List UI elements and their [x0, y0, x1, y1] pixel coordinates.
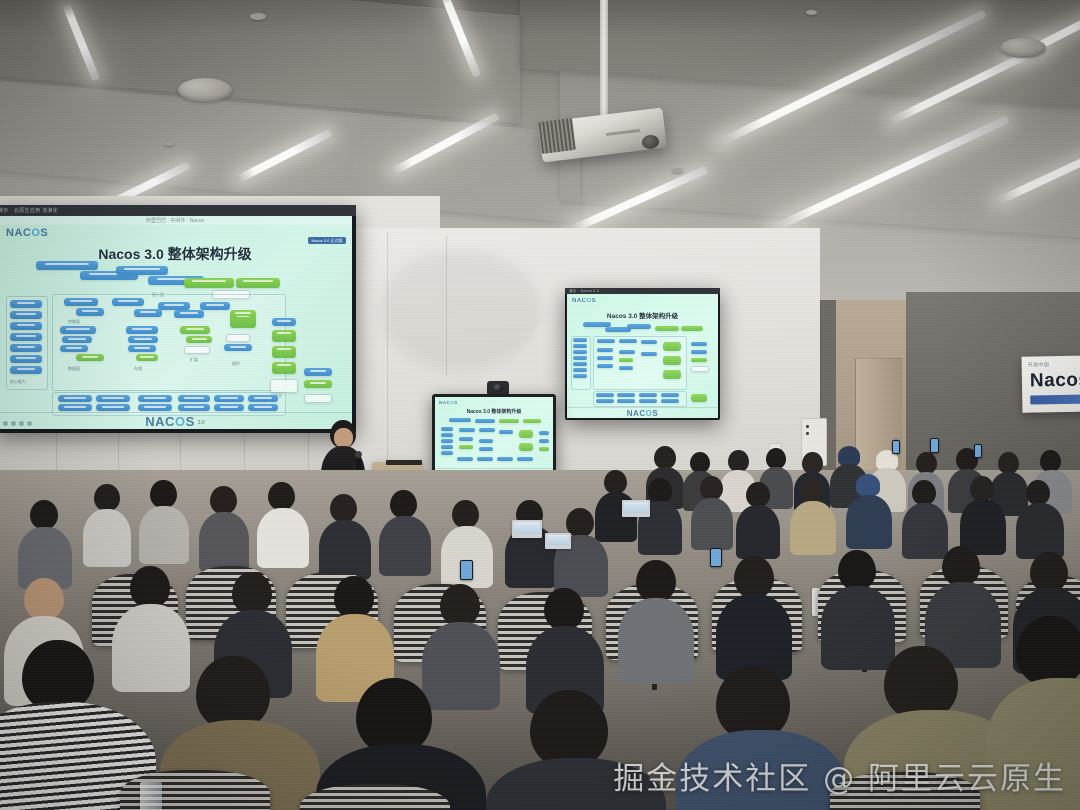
slide-group-label: 扩展 [190, 357, 198, 363]
presenter-face [334, 428, 353, 448]
slide-block [459, 445, 473, 449]
slide-block [134, 309, 162, 317]
main-slide-toolbar[interactable] [3, 421, 32, 426]
slide-block [655, 326, 679, 331]
audience-head [334, 576, 374, 618]
slide-block [681, 326, 703, 331]
slide-block [178, 404, 210, 411]
main-slide-brand-logo: NACOS [6, 227, 48, 239]
audience-head [916, 452, 937, 474]
slide-block [128, 345, 156, 352]
slide-block [304, 394, 332, 403]
laptop-screen [514, 522, 540, 534]
audience-head [648, 478, 672, 503]
main-slide-page-badge-text: Nacos 3.0 正式版 [311, 238, 342, 244]
audience-head [130, 566, 170, 608]
audience-torso [902, 503, 948, 559]
slide-block [597, 339, 615, 343]
main-slide-footer-sub: 3.0 [198, 420, 205, 426]
slide-block [126, 326, 158, 334]
audience-torso [319, 520, 371, 580]
secondary-screen-titlebar-text: 演示 · Nacos 3.0 [565, 289, 599, 294]
main-slide-header-text: 阿里巴巴 · 中间件 · Nacos [146, 217, 204, 224]
slide-block [539, 447, 549, 451]
slide-block [691, 394, 707, 402]
slide-block [96, 395, 130, 402]
slide-block [661, 393, 679, 397]
slide-block [36, 261, 98, 270]
attendee-laptop[interactable] [545, 533, 571, 549]
slide-block [539, 439, 549, 443]
slide-block [573, 356, 587, 360]
audience-head [838, 550, 876, 590]
slide-block [62, 336, 92, 343]
slide-block [597, 364, 613, 368]
slide-block [174, 310, 204, 318]
slide-block [479, 428, 495, 432]
slide-block [178, 395, 210, 402]
nacos-poster: 开源中国 Nacos [1022, 355, 1080, 412]
camera-lens-icon [493, 384, 503, 392]
slide-block [10, 311, 42, 319]
slide-block [441, 445, 453, 449]
poster-title: Nacos [1030, 370, 1080, 393]
ceiling-sprinkler-4 [806, 10, 817, 15]
ceiling-sprinkler-2 [164, 141, 174, 146]
audience-torso [846, 495, 892, 549]
raised-phone[interactable] [974, 444, 982, 458]
slide-group-label: 数据面 [68, 366, 80, 372]
slide-block [58, 395, 92, 402]
audience-torso [112, 604, 190, 692]
secondary-projection-screen: 演示 · Nacos 3.0 NACOS Nacos 3.0 整体架构升级 [565, 288, 720, 420]
slide-block [663, 356, 681, 365]
secondary-slide: NACOS Nacos 3.0 整体架构升级 [567, 294, 718, 418]
slide-block [10, 333, 42, 341]
slide-block [691, 342, 707, 346]
attendee-phone[interactable] [710, 548, 722, 567]
audience-torso [199, 512, 249, 572]
audience-head [734, 556, 774, 598]
poster-accent-bar [1030, 394, 1080, 404]
audience-head [802, 452, 823, 474]
audience-torso [422, 622, 500, 710]
slide-block [499, 419, 519, 423]
slide-block [224, 344, 252, 351]
audience-head [452, 500, 479, 528]
secondary-slide-brand-logo: NACOS [572, 298, 596, 304]
slide-block [76, 308, 104, 316]
control-panel-indicator-2 [806, 432, 809, 435]
audience-head [746, 482, 770, 507]
toolbar-dot-icon[interactable] [19, 421, 24, 426]
audience-head [884, 646, 958, 720]
slide-block [597, 356, 613, 360]
attendee-laptop[interactable] [622, 500, 650, 517]
slide-block [539, 431, 549, 435]
slide-block [180, 326, 210, 334]
water-bottle [140, 782, 162, 810]
audience-head [912, 480, 936, 505]
slide-block [573, 368, 587, 372]
slide-block [663, 342, 681, 351]
audience-head [700, 476, 723, 500]
slide-block [617, 399, 635, 403]
main-slide-page-badge: Nacos 3.0 正式版 [308, 237, 346, 244]
slide-block [573, 338, 587, 342]
slide-block [597, 348, 613, 352]
main-slide-footer: NACOS 3.0 [0, 412, 352, 429]
main-projection-screen: 演示 · 云原生应用 流演化 阿里巴巴 · 中间件 · Nacos NACOS … [0, 205, 356, 433]
slide-block [226, 334, 250, 342]
slide-block [627, 324, 651, 329]
audience-head [196, 656, 270, 730]
projector-mount-pole [600, 0, 608, 122]
audience-head [530, 690, 608, 768]
audience-cap [856, 474, 880, 496]
audience-head [800, 478, 824, 503]
slide-block [477, 457, 493, 461]
audience-head [604, 470, 627, 494]
slide-block [272, 318, 296, 326]
audience-torso [257, 508, 309, 568]
audience-head [356, 678, 432, 754]
control-panel-indicator [806, 425, 809, 428]
audience-torso [618, 598, 694, 684]
slide-block [641, 340, 657, 344]
slide-block [475, 419, 495, 423]
audience-head [1040, 450, 1061, 472]
slide-block [497, 457, 513, 461]
slide-block [441, 433, 453, 437]
slide-block [116, 266, 168, 275]
slide-block [272, 346, 296, 358]
slide-block [617, 393, 635, 397]
audience-head [268, 482, 295, 510]
audience-head [1026, 480, 1050, 505]
slide-block [691, 350, 707, 354]
audience-head [390, 490, 417, 518]
slide-block [214, 395, 244, 402]
slide-block [619, 350, 635, 354]
slide-block [596, 393, 614, 397]
audience-head [636, 560, 676, 602]
audience-torso [379, 516, 431, 576]
slide-block [663, 370, 681, 379]
slide-block [138, 404, 172, 411]
laptop-screen [547, 535, 569, 545]
audience-head [232, 572, 272, 614]
slide-block [619, 366, 633, 370]
main-screen-titlebar-text: 演示 · 云原生应用 流演化 [0, 207, 58, 214]
audience-head [544, 588, 584, 630]
monitor-slide-title: Nacos 3.0 整体架构升级 [435, 408, 553, 415]
slide-block [573, 374, 587, 378]
slide-block [619, 358, 633, 362]
slide-block [441, 439, 453, 443]
slide-block [691, 366, 709, 372]
slide-block [499, 430, 513, 434]
slide-block [573, 344, 587, 348]
slide-group-label: 核心能力 [10, 379, 26, 385]
slide-block [639, 393, 657, 397]
ceiling-sprinkler-3 [672, 168, 683, 173]
slide-block [517, 457, 533, 461]
attendee-phone[interactable] [460, 560, 473, 580]
slide-block [60, 326, 96, 334]
audience-torso [1016, 503, 1064, 559]
main-screen-titlebar: 演示 · 云原生应用 流演化 [0, 205, 356, 216]
audience-head [210, 486, 237, 514]
slide-group-label: 控制面 [68, 319, 80, 325]
audience-head [766, 448, 786, 469]
slide-block [58, 404, 92, 411]
slide-block [64, 298, 98, 306]
slide-block [10, 300, 42, 308]
audience-head [654, 446, 676, 469]
toolbar-dot-icon[interactable] [3, 421, 8, 426]
slide-block [459, 437, 473, 441]
slide-block [184, 346, 210, 354]
audience-head [970, 476, 994, 501]
audience-torso [821, 586, 895, 670]
audience-head [690, 452, 710, 473]
slide-block [661, 399, 679, 403]
slide-block [76, 354, 104, 361]
slide-block [691, 358, 707, 362]
projector-vent-grille [538, 118, 576, 154]
slide-block [449, 418, 471, 422]
slide-block [641, 352, 657, 356]
audience-torso [790, 501, 836, 555]
audience-torso [83, 509, 131, 567]
ceiling-sprinkler-1 [250, 13, 266, 20]
slide-block [519, 430, 533, 438]
slide-block [186, 336, 212, 343]
slide-group-label: 插件 [232, 361, 240, 367]
slide-block [200, 302, 230, 310]
audience-head [94, 484, 120, 511]
slide-block [523, 419, 541, 423]
lectern-surface [386, 460, 422, 465]
watermark: 掘金技术社区 @ 阿里云云原生 [613, 753, 1066, 798]
slide-block [441, 451, 453, 455]
main-slide: 阿里巴巴 · 中间件 · Nacos NACOS Nacos 3.0 正式版 N… [0, 216, 352, 429]
slide-block [10, 355, 42, 363]
ceiling-speaker-2 [1000, 38, 1046, 58]
raised-phone[interactable] [892, 440, 900, 454]
poster-eyebrow: 开源中国 [1028, 361, 1050, 368]
audience-head [440, 584, 480, 626]
audience-head [998, 452, 1019, 474]
slide-block [138, 395, 172, 402]
slide-block [479, 439, 493, 443]
slide-block [128, 336, 158, 343]
secondary-slide-footer: NACOS [567, 407, 718, 418]
slide-group-label: 存储 [134, 366, 142, 372]
audience-head [330, 494, 357, 522]
slide-block [639, 399, 657, 403]
slide-block [158, 302, 190, 310]
secondary-slide-footer-logo: NACOS [627, 409, 658, 418]
slide-block [10, 322, 42, 330]
slide-block [248, 395, 278, 402]
audience-head [24, 578, 64, 620]
microphone-head-icon [355, 451, 362, 458]
confidence-monitor-slide: NACOS Nacos 3.0 整体架构升级 [435, 397, 553, 477]
slide-block [619, 339, 637, 343]
audience-head [30, 500, 58, 529]
slide-block [136, 354, 158, 361]
attendee-laptop[interactable] [512, 520, 542, 538]
slide-block [304, 368, 332, 376]
slide-block [236, 278, 280, 288]
audience-head [728, 450, 749, 472]
slide-block [573, 350, 587, 354]
slide-block [10, 366, 42, 374]
slide-block [270, 379, 298, 393]
slide-block [184, 278, 234, 288]
slide-block [10, 344, 42, 352]
monitor-slide-brand-logo: NACOS [439, 400, 458, 405]
ceiling-speaker-1 [178, 78, 232, 102]
audience-head [150, 480, 177, 508]
audience-torso [736, 505, 780, 559]
slide-block [60, 345, 88, 352]
conference-room-photo: 开源中国 Nacos 演示 · 云原生应用 流演化 阿里巴巴 · 中间件 · N… [0, 0, 1080, 810]
slide-block [457, 457, 473, 461]
main-slide-footer-logo: NACOS [145, 414, 194, 429]
main-slide-header: 阿里巴巴 · 中间件 · Nacos [0, 216, 352, 225]
slide-block [441, 427, 453, 431]
audience-torso [691, 498, 733, 550]
slide-block [272, 362, 296, 374]
slide-block [96, 404, 130, 411]
slide-block [459, 428, 475, 432]
slide-block [214, 404, 244, 411]
slide-block [112, 298, 144, 306]
slide-block [230, 310, 256, 328]
toolbar-dot-icon[interactable] [11, 421, 16, 426]
slide-block [573, 362, 587, 366]
wall-seam-6 [387, 232, 388, 482]
raised-phone[interactable] [930, 438, 939, 453]
slide-block [596, 399, 614, 403]
wall-shading-1 [380, 250, 540, 370]
slide-block [519, 443, 533, 451]
audience-head [1030, 552, 1068, 592]
slide-block [272, 330, 296, 342]
audience-cap [838, 446, 860, 466]
slide-block [248, 404, 278, 411]
audience-torso [139, 506, 189, 564]
slide-block [304, 380, 332, 388]
audience-head [942, 546, 980, 586]
laptop-screen [624, 502, 648, 513]
audience-head [716, 666, 790, 740]
toolbar-dot-icon[interactable] [27, 421, 32, 426]
secondary-slide-title: Nacos 3.0 整体架构升级 [567, 310, 718, 320]
slide-block [479, 447, 493, 451]
audience-head [1016, 616, 1080, 686]
